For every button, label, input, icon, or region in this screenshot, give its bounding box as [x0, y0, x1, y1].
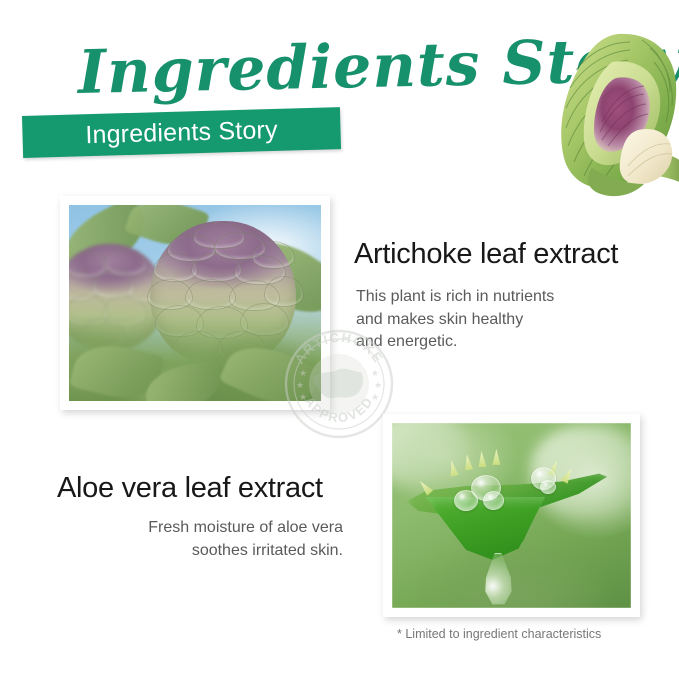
- svg-text:★: ★: [374, 380, 382, 390]
- artichoke-photo-frame: [60, 196, 330, 410]
- artichoke-heading: Artichoke leaf extract: [354, 238, 618, 271]
- body-line: This plant is rich in nutrients: [356, 286, 616, 309]
- artichoke-photo: [69, 205, 321, 401]
- page-title-script: Ingredients Story: [77, 25, 499, 112]
- body-line: and makes skin healthy: [356, 309, 616, 332]
- water-droplet: [454, 490, 478, 511]
- body-line: soothes irritated skin.: [60, 540, 343, 563]
- artichoke-body-text: This plant is rich in nutrients and make…: [356, 286, 616, 354]
- body-line: and energetic.: [356, 331, 616, 354]
- aloe-photo: [392, 423, 631, 608]
- halved-artichoke-illustration: [556, 26, 679, 204]
- banner-ribbon: Ingredients Story: [22, 107, 341, 158]
- aloe-body-text: Fresh moisture of aloe vera soothes irri…: [60, 517, 343, 562]
- svg-text:★: ★: [371, 392, 379, 402]
- aloe-photo-frame: [383, 414, 640, 617]
- aloe-heading: Aloe vera leaf extract: [57, 472, 323, 505]
- banner-label: Ingredients Story: [22, 107, 341, 158]
- svg-text:★: ★: [371, 368, 379, 378]
- footnote-text: * Limited to ingredient characteristics: [397, 627, 601, 641]
- body-line: Fresh moisture of aloe vera: [60, 517, 343, 540]
- ingredients-story-page: Ingredients Story Ingredients Story: [0, 0, 679, 679]
